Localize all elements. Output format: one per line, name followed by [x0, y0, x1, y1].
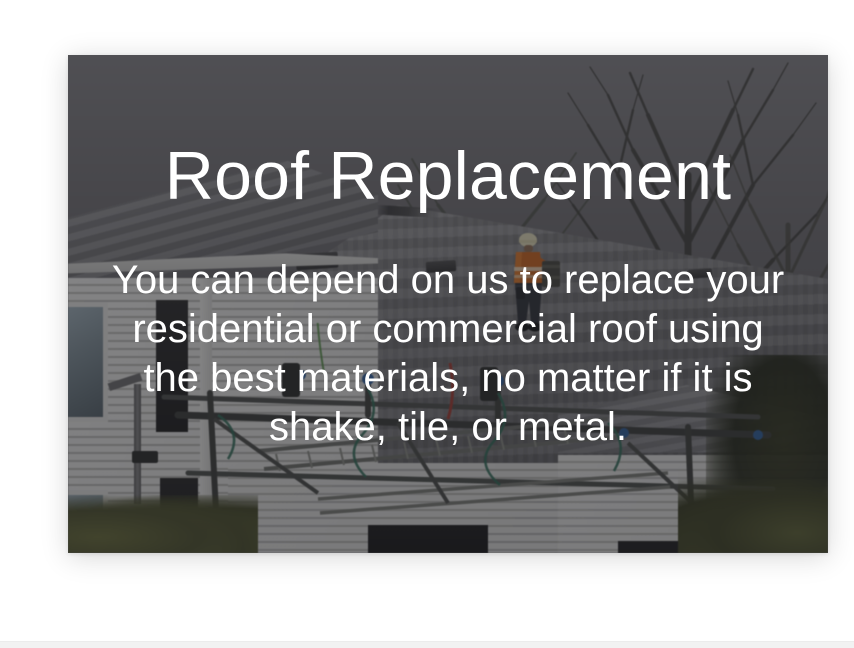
hero-content: Roof Replacement You can depend on us to…	[68, 55, 828, 553]
page-title: Roof Replacement	[165, 55, 731, 212]
hero-subtitle: You can depend on us to replace your res…	[108, 212, 788, 451]
hero-card: Roof Replacement You can depend on us to…	[68, 55, 828, 553]
bottom-divider-band	[0, 641, 854, 648]
page-root: Roof Replacement You can depend on us to…	[0, 0, 854, 648]
